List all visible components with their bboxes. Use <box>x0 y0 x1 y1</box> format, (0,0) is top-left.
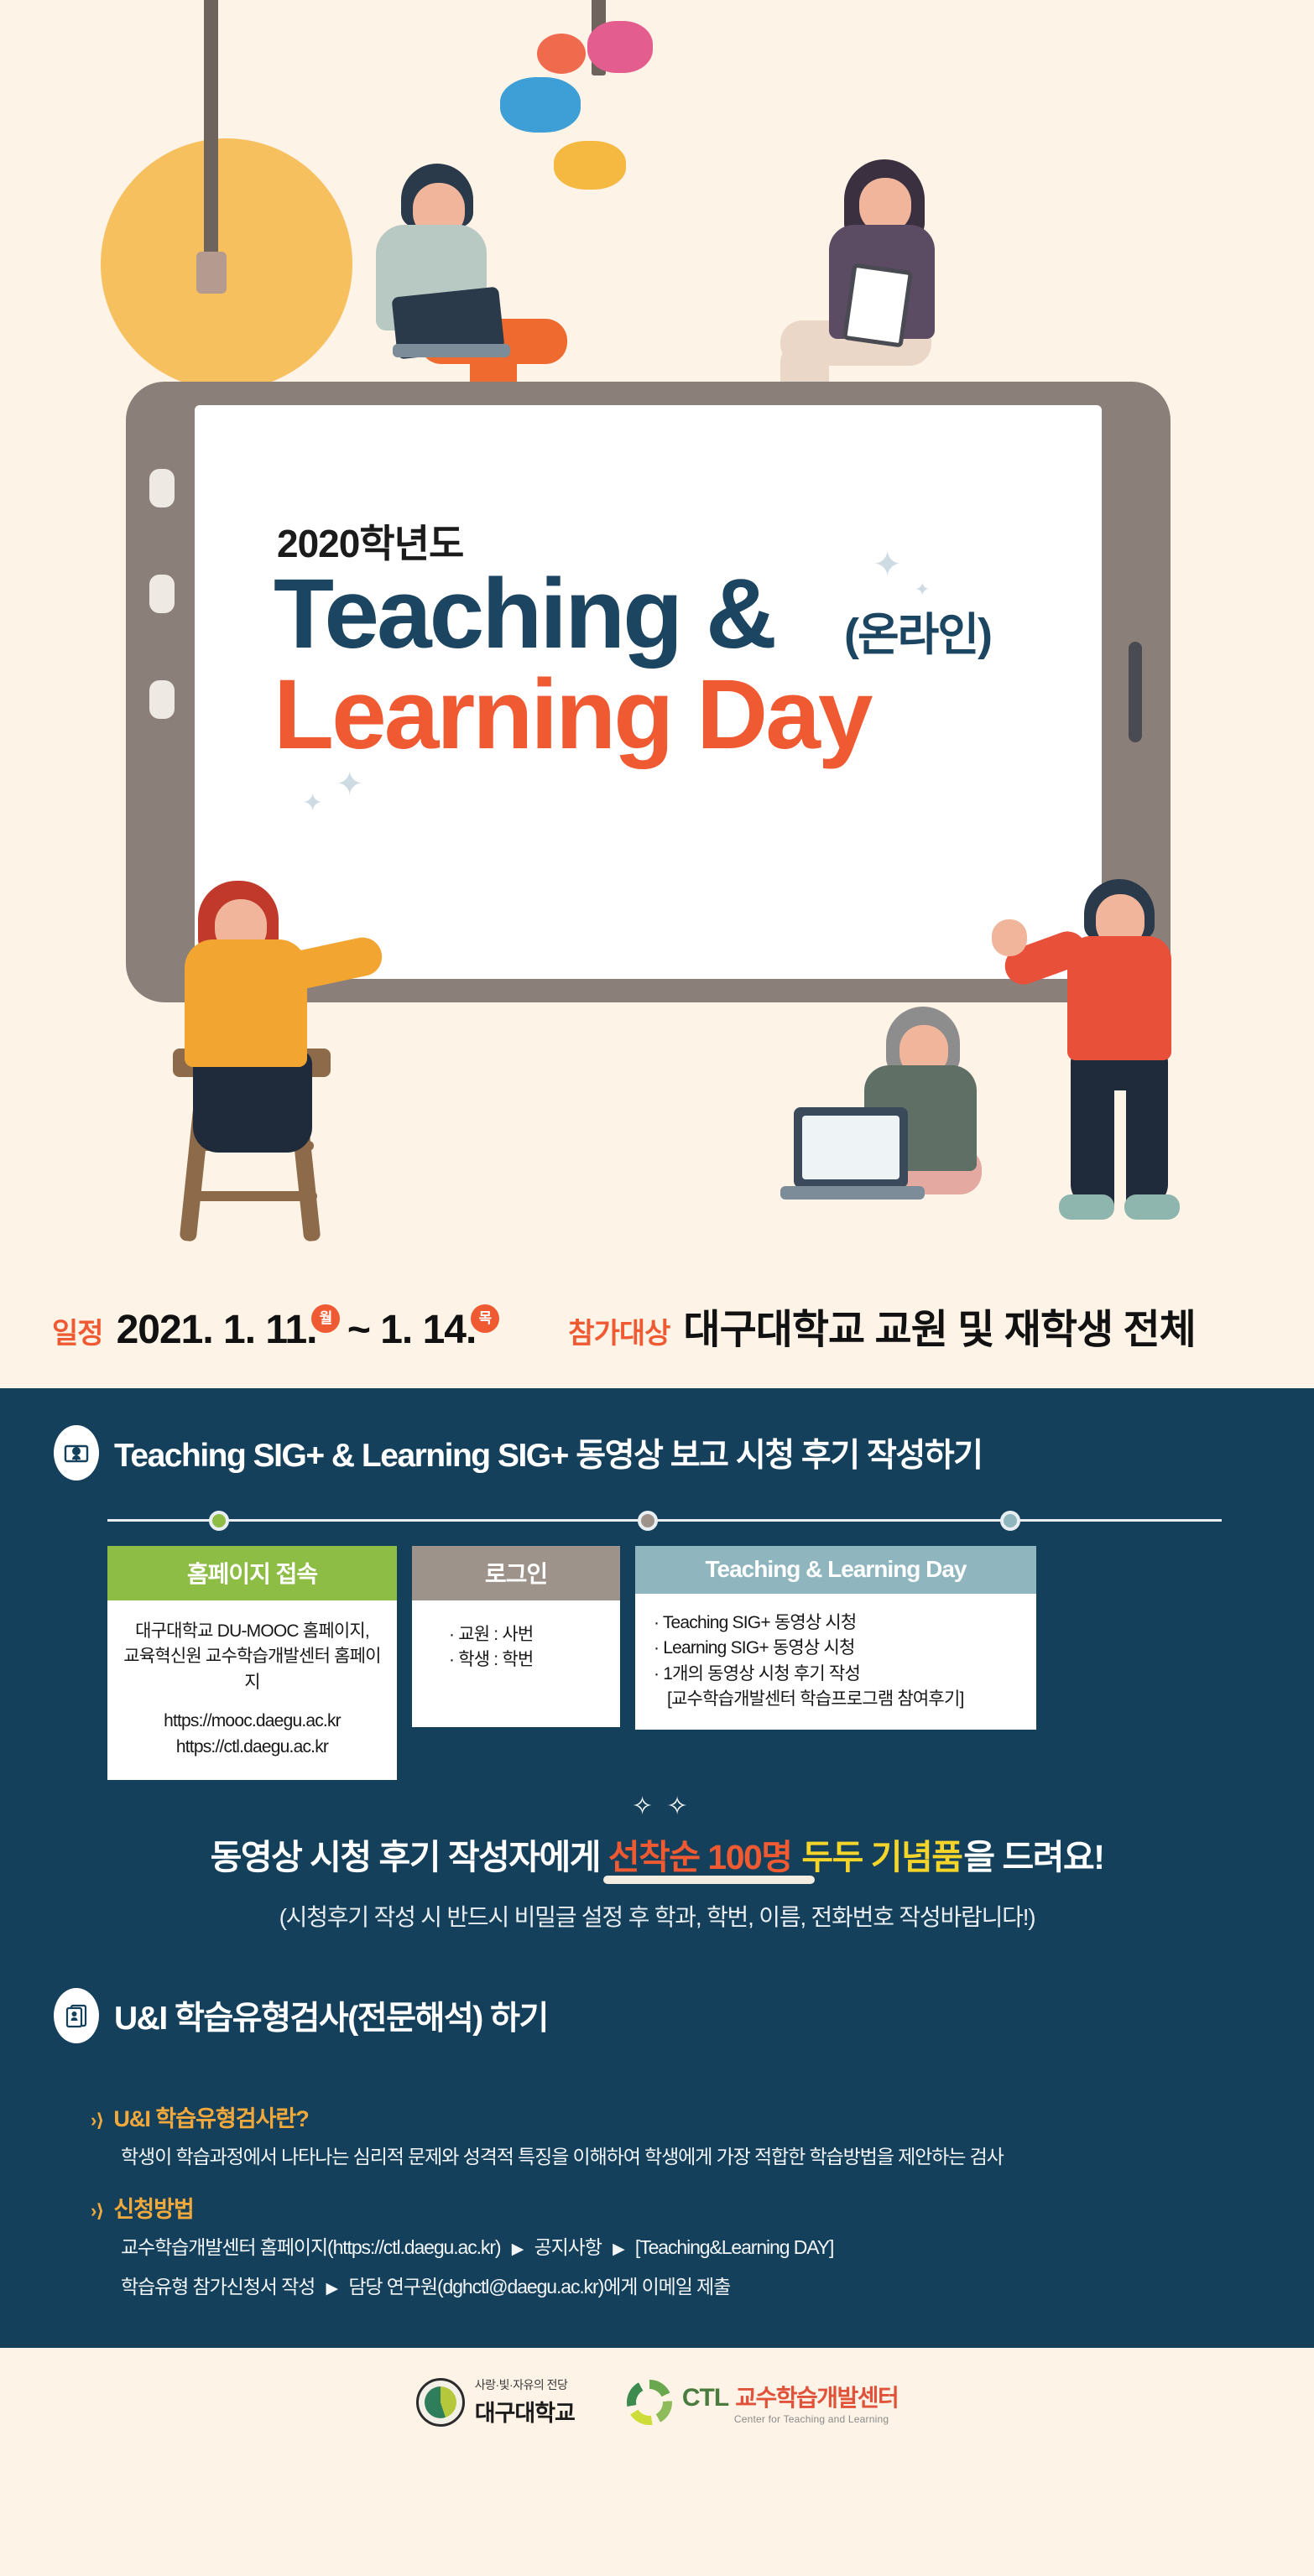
tablet-button-2 <box>149 575 175 613</box>
speech-bubble-yellow-icon <box>554 141 626 190</box>
seal-inner-emblem <box>425 2386 456 2418</box>
schedule-end-date: 1. 14. <box>380 1308 476 1352</box>
schedule-label: 일정 <box>52 1310 103 1351</box>
schedule-start-weekday: 월 <box>311 1304 340 1333</box>
arrow-right-icon-1: ▶ <box>512 2237 524 2262</box>
person5-shoe-right <box>1124 1194 1180 1220</box>
poster-root: 2020학년도 Teaching & (온라인) Learning Day ✦ … <box>0 0 1314 2576</box>
promo-part1: 동영상 시청 후기 작성자에게 <box>211 1838 608 1876</box>
step1-url-1[interactable]: https://mooc.daegu.ac.kr <box>123 1709 382 1734</box>
audience-value: 대구대학교 교원 및 재학생 전체 <box>683 1296 1195 1355</box>
ui-question-2-text: 신청방법 <box>113 2191 193 2224</box>
stool-rung-lower <box>186 1191 317 1201</box>
step1-line-2: 교육혁신원 교수학습개발센터 홈페이지 <box>123 1644 382 1695</box>
person4-laptop-screen <box>802 1116 899 1179</box>
person5-hand <box>992 919 1027 956</box>
schedule-start-date: 1. 11. <box>223 1308 316 1352</box>
timeline-line <box>107 1519 1222 1522</box>
section2-title: U&I 학습유형검사(전문해석) 하기 <box>114 1992 548 2039</box>
step3-bullet-3: · 1개의 동영상 시청 후기 작성 <box>654 1662 1023 1687</box>
speech-bubble-blue-icon <box>500 77 581 133</box>
daegu-university-seal-icon <box>416 2378 465 2427</box>
ctl-name-english: Center for Teaching and Learning <box>734 2413 898 2425</box>
schedule-bar: 일정 2021. 1. 11.월 ~ 1. 14.목 참가대상 대구대학교 교원… <box>0 1296 1314 1388</box>
book-person-icon <box>54 1425 99 1481</box>
step-card-1-body: 대구대학교 DU-MOOC 홈페이지, 교육혁신원 교수학습개발센터 홈페이지 … <box>107 1600 397 1780</box>
promo-note: (시청후기 작성 시 반드시 비밀글 설정 후 학과, 학번, 이름, 전화번호… <box>0 1899 1314 1933</box>
promo-yellow: 두두 기념품 <box>800 1838 963 1876</box>
step-card-2-body: · 교원 : 사번 · 학생 : 학번 <box>412 1600 620 1727</box>
ui-answer-2-line1: 교수학습개발센터 홈페이지(https://ctl.daegu.ac.kr) ▶… <box>121 2232 1314 2263</box>
tablet-button-3 <box>149 680 175 719</box>
ctl-circular-mark-icon <box>627 2380 672 2425</box>
step-card-2: 로그인 · 교원 : 사번 · 학생 : 학번 <box>412 1546 620 1727</box>
ui-info-block: ›⟩ U&I 학습유형검사란? 학생이 학습과정에서 나타나는 심리적 문제와 … <box>0 2069 1314 2302</box>
sparkle-icon-4: ✦ <box>336 765 364 804</box>
person5-shoe-left <box>1059 1194 1114 1220</box>
ctl-logo-text: CTL 교수학습개발센터 Center for Teaching and Lea… <box>682 2380 898 2425</box>
arrow-right-icon-3: ▶ <box>326 2277 338 2302</box>
tablet-side-bar <box>1129 642 1142 742</box>
university-slogan: 사랑·빛·자유의 전당 <box>475 2376 575 2393</box>
step2-bullet-2: · 학생 : 학번 <box>449 1647 605 1673</box>
promo-orange: 선착순 100명 <box>608 1838 800 1876</box>
timeline-dot-1 <box>209 1511 229 1531</box>
ctl-name-korean: 교수학습개발센터 <box>735 2380 898 2413</box>
ui-item-definition: ›⟩ U&I 학습유형검사란? 학생이 학습과정에서 나타나는 심리적 문제와 … <box>91 2100 1314 2173</box>
chevron-right-icon-2: ›⟩ <box>91 2200 103 2222</box>
step-card-3-header: Teaching & Learning Day <box>635 1546 1036 1594</box>
apply-step-5[interactable]: 담당 연구원(dghctl@daegu.ac.kr)에게 이메일 제출 <box>348 2276 730 2298</box>
speech-bubble-red-icon <box>537 34 586 74</box>
step3-subnote: [교수학습개발센터 학습프로그램 참여후기] <box>654 1687 1023 1712</box>
steps-timeline <box>107 1506 1222 1534</box>
apply-step-2: 공지사항 <box>534 2236 602 2258</box>
sparkle-icon-1: ✦ <box>873 544 902 585</box>
timeline-dot-2 <box>638 1511 658 1531</box>
section1-header: Teaching SIG+ & Learning SIG+ 동영상 보고 시청 … <box>0 1425 1314 1481</box>
apply-step-1[interactable]: 교수학습개발센터 홈페이지(https://ctl.daegu.ac.kr) <box>121 2236 500 2258</box>
hero-section: 2020학년도 Teaching & (온라인) Learning Day ✦ … <box>0 0 1314 1296</box>
hanging-strap-left <box>204 0 218 270</box>
dark-content-section: Teaching SIG+ & Learning SIG+ 동영상 보고 시청 … <box>0 1388 1314 2457</box>
step3-bullet-2: · Learning SIG+ 동영상 시청 <box>654 1636 1023 1661</box>
sparkle-icon-2: ✦ <box>915 579 930 601</box>
schedule-tilde: ~ <box>347 1308 370 1352</box>
step1-line-1: 대구대학교 DU-MOOC 홈페이지, <box>123 1619 382 1644</box>
ui-answer-2-line2: 학습유형 참가신청서 작성 ▶ 담당 연구원(dghctl@daegu.ac.k… <box>121 2272 1314 2303</box>
footer-logos: 사랑·빛·자유의 전당 대구대학교 CTL 교수학습개발센터 Center fo… <box>0 2348 1314 2457</box>
step-card-3-body: · Teaching SIG+ 동영상 시청 · Learning SIG+ 동… <box>635 1594 1036 1730</box>
arrow-right-icon-2: ▶ <box>613 2237 624 2262</box>
schedule-value: 2021. 1. 11.월 ~ 1. 14.목 <box>117 1307 497 1353</box>
ui-question-2: ›⟩ 신청방법 <box>91 2191 1314 2224</box>
university-logo-text: 사랑·빛·자유의 전당 대구대학교 <box>475 2376 575 2428</box>
ui-question-1-text: U&I 학습유형검사란? <box>113 2100 308 2133</box>
ui-item-application: ›⟩ 신청방법 교수학습개발센터 홈페이지(https://ctl.daegu.… <box>91 2191 1314 2303</box>
apply-step-3: [Teaching&Learning DAY] <box>635 2236 833 2258</box>
audience-label: 참가대상 <box>568 1310 670 1351</box>
sparkle-stars-icon: ✧ ✧ <box>632 1792 691 1821</box>
tablet-button-1 <box>149 469 175 507</box>
promo-underline-brush <box>603 1876 815 1884</box>
person4-laptop-base <box>780 1186 925 1200</box>
orange-blob-decoration <box>101 138 352 390</box>
chevron-right-icon-1: ›⟩ <box>91 2110 103 2131</box>
step3-bullet-1: · Teaching SIG+ 동영상 시청 <box>654 1611 1023 1636</box>
ui-question-1: ›⟩ U&I 학습유형검사란? <box>91 2100 1314 2133</box>
promo-line: ✧ ✧동영상 시청 후기 작성자에게 선착순 100명 두두 기념품을 드려요! <box>0 1829 1314 1879</box>
step2-bullet-1: · 교원 : 사번 <box>449 1622 605 1647</box>
university-name: 대구대학교 <box>475 2395 575 2428</box>
step-card-3: Teaching & Learning Day · Teaching SIG+ … <box>635 1546 1036 1730</box>
hero-title-line2: Learning Day <box>274 656 871 775</box>
section2-header: U&I 학습유형검사(전문해석) 하기 <box>0 1988 1314 2043</box>
timeline-dot-3 <box>1000 1511 1020 1531</box>
step-card-1: 홈페이지 접속 대구대학교 DU-MOOC 홈페이지, 교육혁신원 교수학습개발… <box>107 1546 397 1780</box>
university-logo: 사랑·빛·자유의 전당 대구대학교 <box>416 2376 575 2428</box>
strap-pad-left <box>196 252 227 294</box>
person2-clipboard-icon <box>842 263 913 347</box>
person5-leg-gap <box>1114 1090 1126 1208</box>
apply-step-4: 학습유형 참가신청서 작성 <box>121 2276 315 2298</box>
speech-bubble-pink-icon <box>587 21 653 73</box>
step1-url-2[interactable]: https://ctl.daegu.ac.kr <box>123 1735 382 1760</box>
steps-card-list: 홈페이지 접속 대구대학교 DU-MOOC 홈페이지, 교육혁신원 교수학습개발… <box>0 1534 1314 1780</box>
sparkle-icon-3: ✦ <box>302 788 323 818</box>
schedule-year: 2021. <box>117 1308 213 1352</box>
step-card-1-header: 홈페이지 접속 <box>107 1546 397 1600</box>
hero-online-tag: (온라인) <box>844 597 991 664</box>
promo-part2: 을 드려요! <box>963 1838 1103 1876</box>
person1-laptop-base <box>393 344 510 357</box>
ctl-abbr: CTL <box>682 2384 728 2412</box>
schedule-end-weekday: 목 <box>471 1304 499 1333</box>
ctl-logo: CTL 교수학습개발센터 Center for Teaching and Lea… <box>627 2380 898 2425</box>
ui-answer-1: 학생이 학습과정에서 나타나는 심리적 문제와 성격적 특징을 이해하여 학생에… <box>121 2141 1314 2173</box>
document-card-icon <box>54 1988 99 2043</box>
step-card-2-header: 로그인 <box>412 1546 620 1600</box>
section1-title: Teaching SIG+ & Learning SIG+ 동영상 보고 시청 … <box>114 1429 983 1476</box>
ctl-logo-row: CTL 교수학습개발센터 <box>682 2380 898 2413</box>
